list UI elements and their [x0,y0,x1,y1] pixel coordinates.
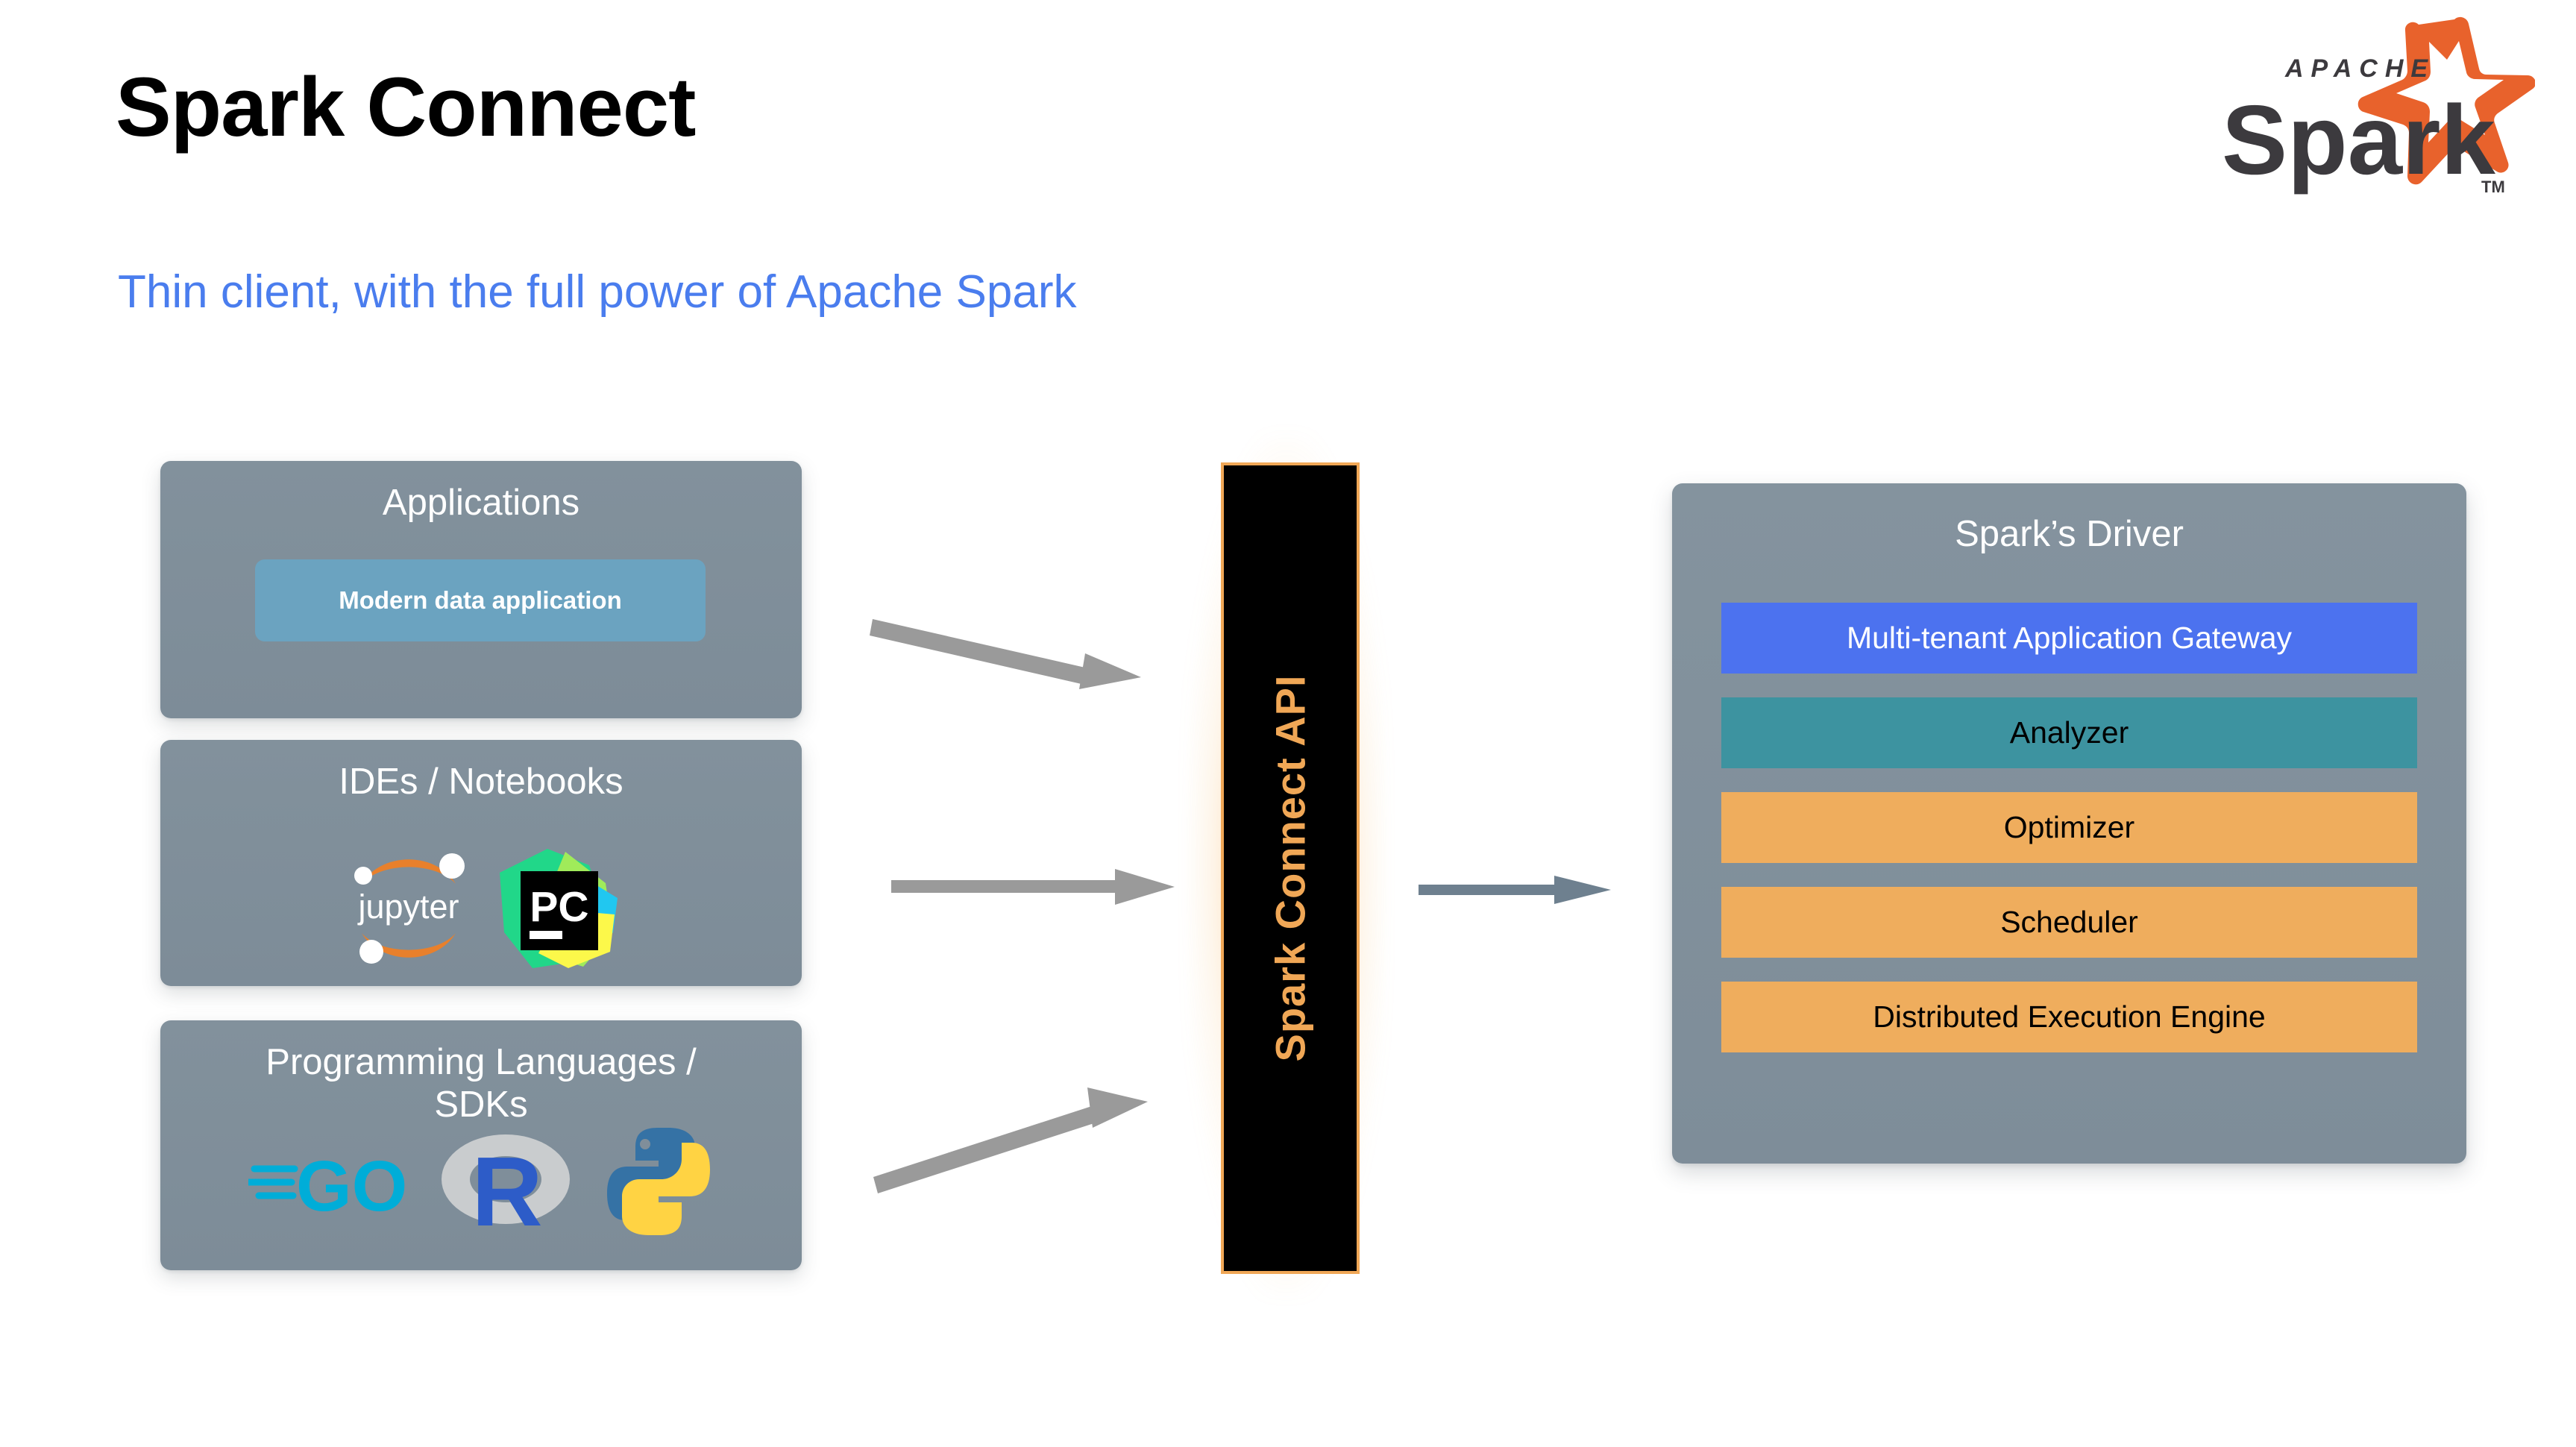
r-lang-logo-icon: R [439,1126,573,1237]
client-box-langs-title-line2: SDKs [160,1084,802,1126]
client-box-ides-title: IDEs / Notebooks [160,740,802,803]
ides-logo-row: jupyter PC [160,843,802,973]
connect-api-label: Spark Connect API [1266,674,1315,1061]
arrow-ides-to-api [891,865,1219,932]
arrow-api-to-driver [1419,871,1642,931]
spark-driver-stack: Multi-tenant Application Gateway Analyze… [1721,603,2417,1052]
connect-api-bar[interactable]: Spark Connect API [1221,462,1360,1274]
spark-driver-box[interactable]: Spark’s Driver Multi-tenant Application … [1672,483,2466,1164]
logo-wordmark-text: Spark [2222,85,2495,195]
svg-text:jupyter: jupyter [356,888,459,926]
logo-eyebrow-text: APACHE [2284,54,2435,83]
svg-text:PC: PC [530,883,588,931]
modern-data-application-pill[interactable]: Modern data application [255,559,706,641]
apache-spark-logo: APACHE Spark TM [2170,13,2535,215]
client-box-applications-title: Applications [160,461,802,524]
page-title: Spark Connect [116,63,695,151]
spark-driver-title: Spark’s Driver [1672,483,2466,555]
arrow-langs-to-api [876,1052,1227,1201]
langs-logo-row: GO R [160,1125,802,1238]
svg-text:GO: GO [296,1146,407,1225]
driver-row-optimizer[interactable]: Optimizer [1721,792,2417,863]
driver-row-analyzer[interactable]: Analyzer [1721,697,2417,768]
client-box-ides-notebooks[interactable]: IDEs / Notebooks jupyter PC [160,740,802,986]
client-box-langs-title-line1: Programming Languages / [160,1041,802,1084]
driver-row-scheduler[interactable]: Scheduler [1721,887,2417,958]
python-logo-icon [603,1125,714,1238]
client-box-langs-title: Programming Languages / SDKs [160,1020,802,1126]
pycharm-logo-icon: PC [494,843,621,973]
client-box-programming-languages[interactable]: Programming Languages / SDKs GO R [160,1020,802,1270]
client-box-applications[interactable]: Applications Modern data application [160,461,802,718]
apache-spark-logo-svg: APACHE Spark TM [2170,13,2535,215]
driver-row-multi-tenant-application-gateway[interactable]: Multi-tenant Application Gateway [1721,603,2417,674]
arrow-applications-to-api [873,612,1223,761]
driver-row-distributed-execution-engine[interactable]: Distributed Execution Engine [1721,982,2417,1052]
page-subtitle: Thin client, with the full power of Apac… [118,266,1076,318]
jupyter-logo-icon: jupyter [342,845,476,972]
logo-trademark-text: TM [2481,178,2505,196]
golang-logo-icon: GO [248,1139,409,1225]
svg-text:R: R [471,1137,542,1237]
